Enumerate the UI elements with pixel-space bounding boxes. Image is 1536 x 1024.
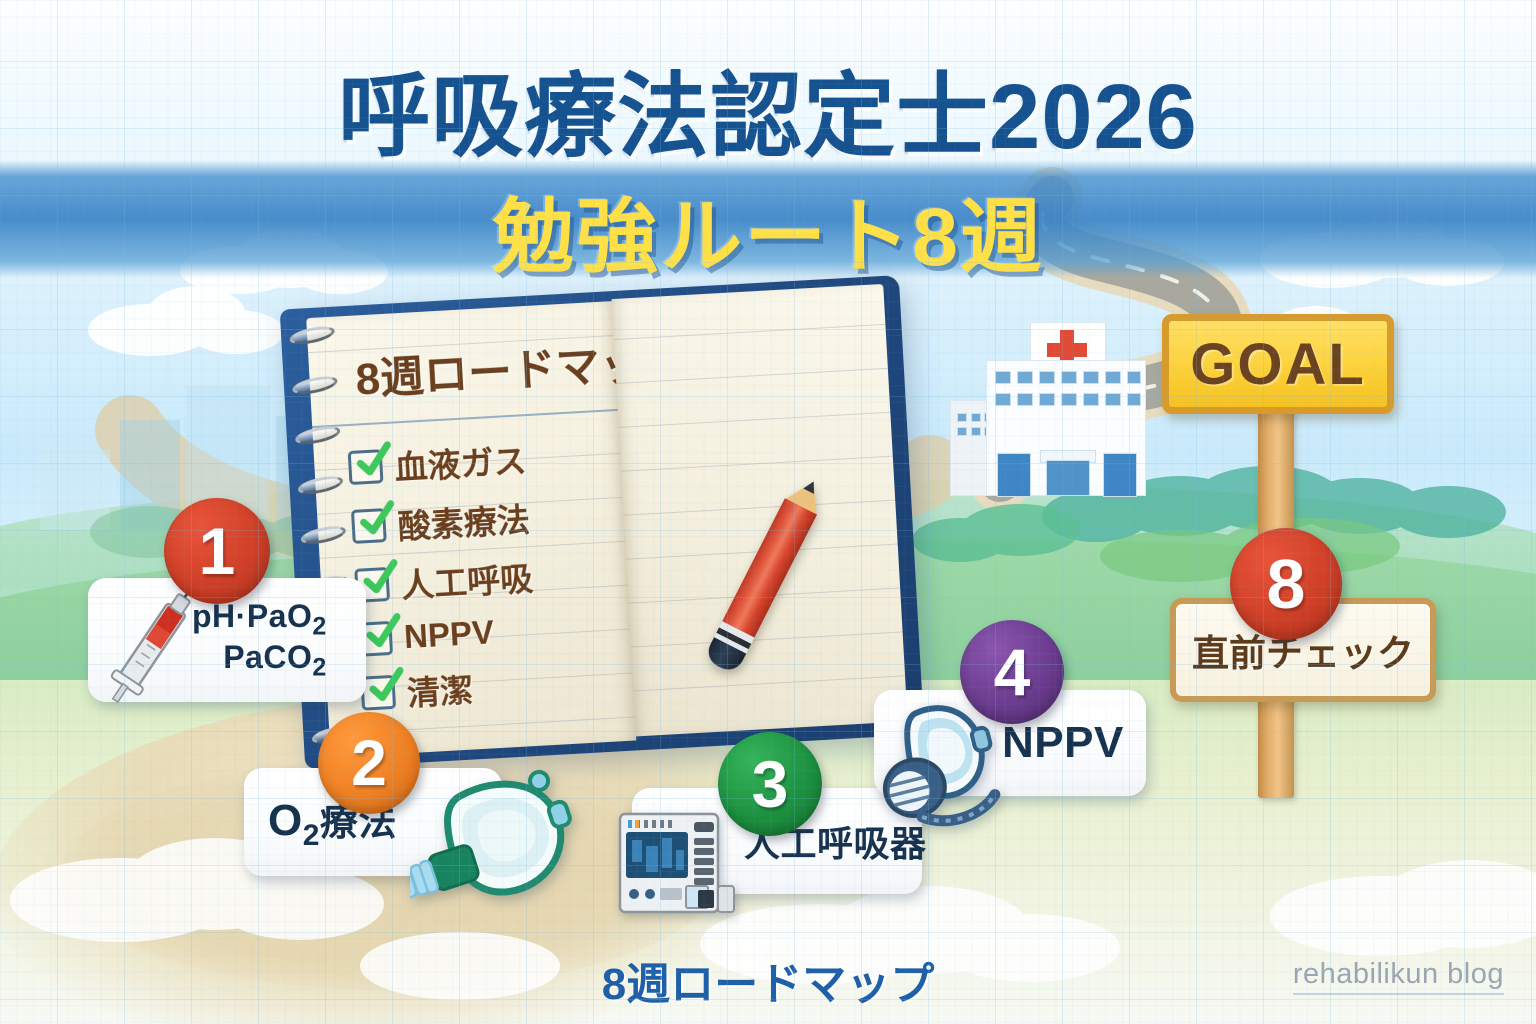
infographic-canvas: GOAL 呼吸療法認定士2026 勉強ルート8週 8週ロードマップ 血液 (0, 0, 1536, 1024)
grid-overlay (0, 0, 1536, 1024)
